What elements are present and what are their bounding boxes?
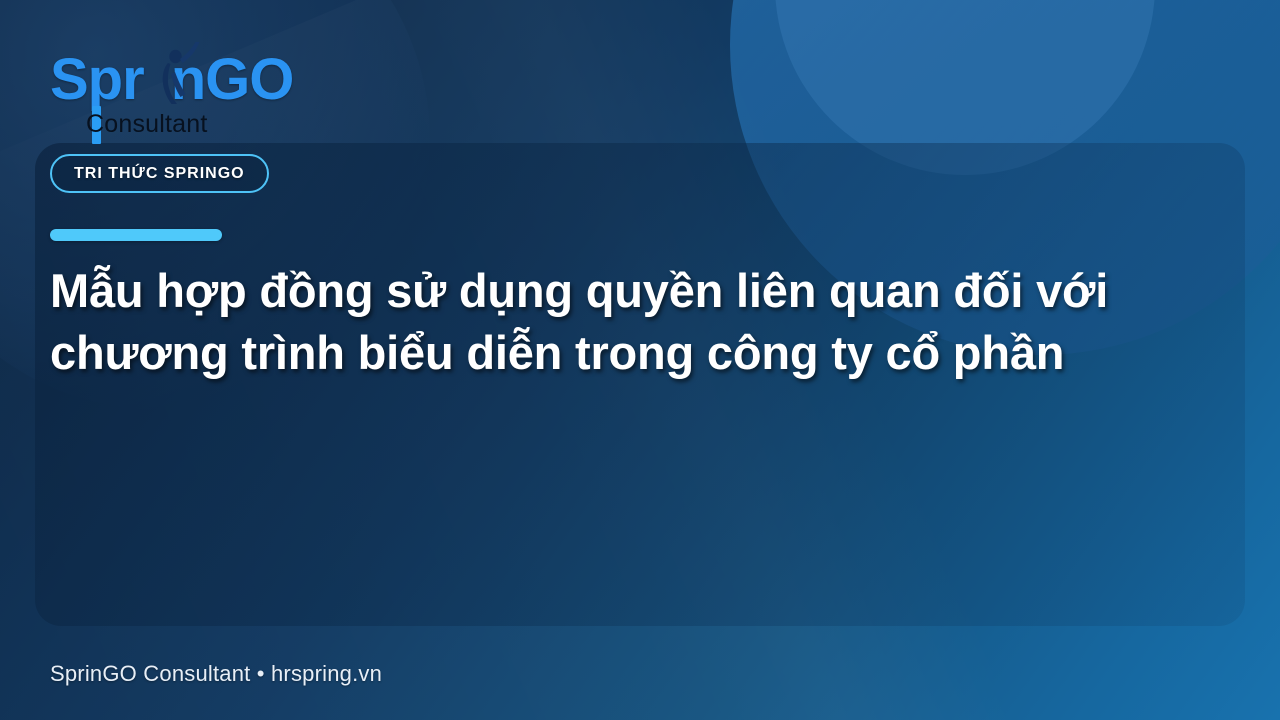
logo-subtitle: Consultant xyxy=(86,110,208,138)
page-title: Mẫu hợp đồng sử dụng quyền liên quan đối… xyxy=(50,260,1150,384)
slide-canvas: SprnGO Consultant TRI THỨC SPRINGO Mẫu h… xyxy=(0,0,1280,720)
person-figure-icon xyxy=(156,42,202,106)
category-badge[interactable]: TRI THỨC SPRINGO xyxy=(50,154,269,193)
category-badge-label: TRI THỨC SPRINGO xyxy=(74,165,245,183)
brand-logo[interactable]: SprnGO Consultant xyxy=(50,48,350,144)
logo-word-part1: Spr xyxy=(50,47,144,112)
headline-accent-bar xyxy=(50,229,222,241)
logo-wordmark: SprnGO xyxy=(50,48,350,112)
footer-credit: SprinGO Consultant • hrspring.vn xyxy=(50,660,382,688)
content-card xyxy=(35,143,1245,626)
